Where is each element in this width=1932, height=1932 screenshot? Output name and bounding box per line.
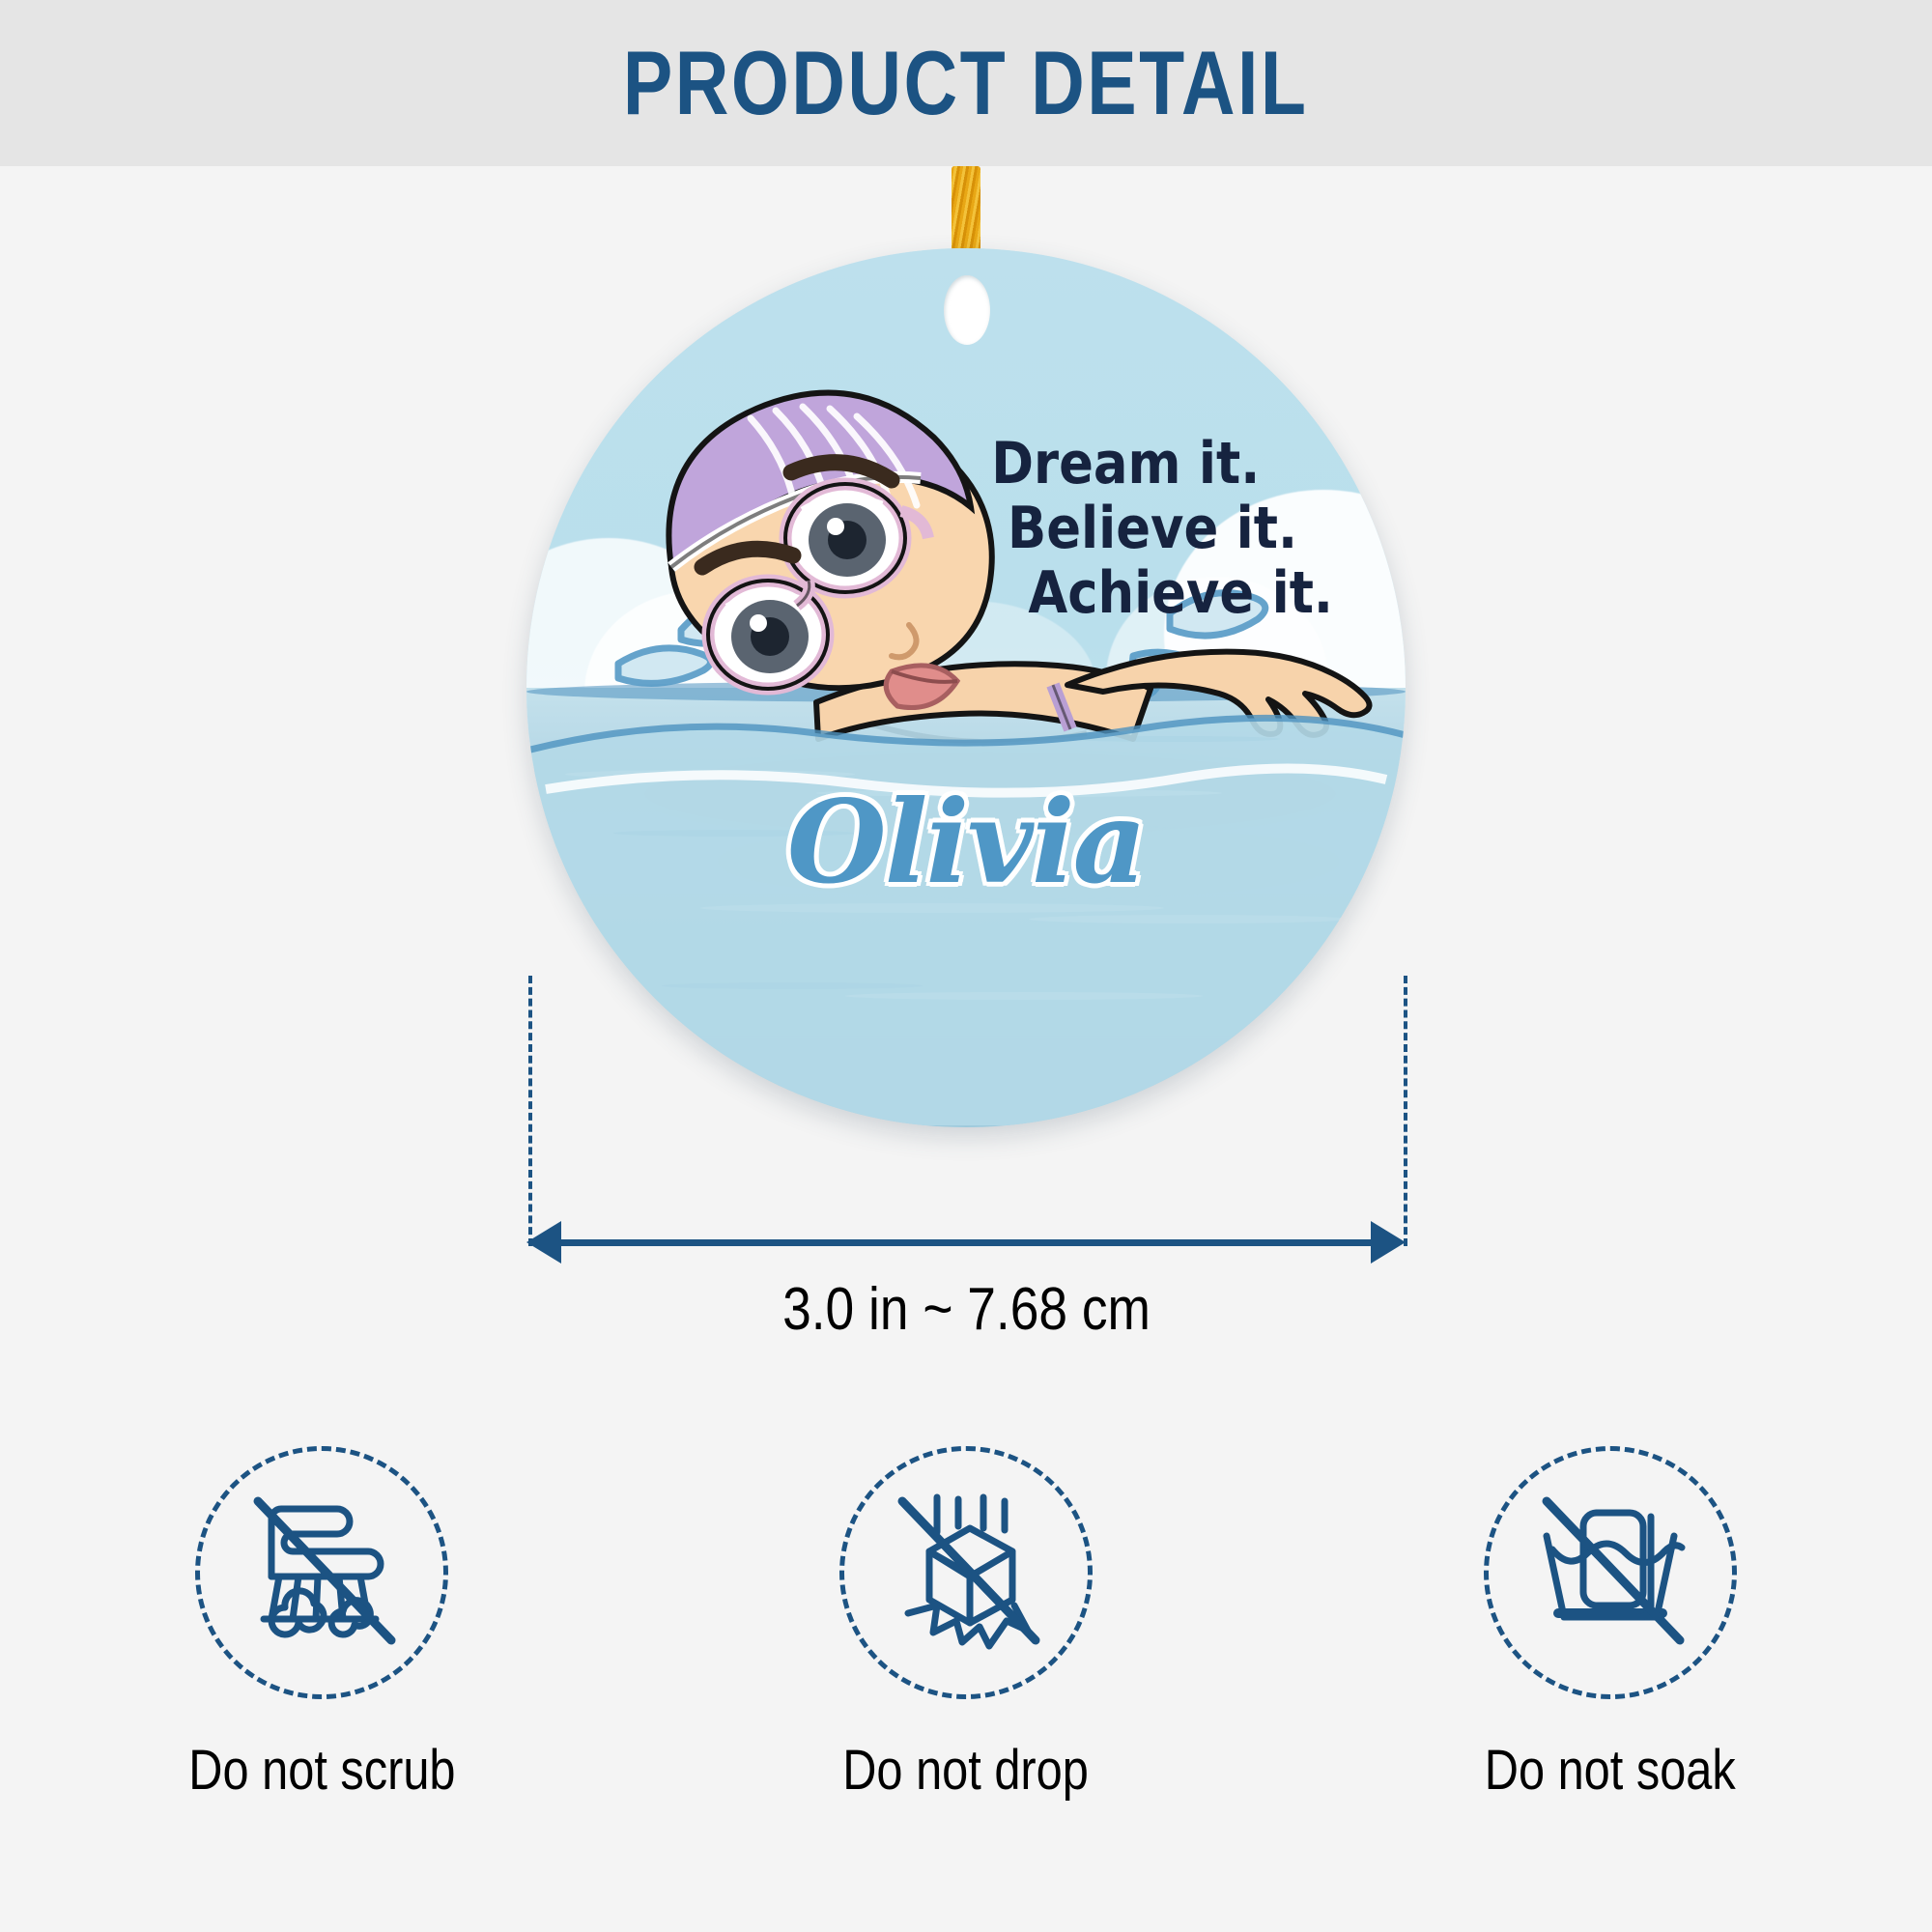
care-item-no-scrub: Do not scrub (51, 1446, 592, 1803)
hanging-hole (944, 275, 990, 345)
header-banner: PRODUCT DETAIL (0, 0, 1932, 166)
dimension-guide-left (528, 976, 532, 1246)
care-label-no-drop: Do not drop (843, 1738, 1090, 1803)
quote-line-3: Achieve it. (789, 561, 1333, 626)
dimension-arrow-line (547, 1239, 1385, 1246)
care-label-no-scrub: Do not scrub (188, 1738, 455, 1803)
no-drop-box-icon (839, 1446, 1093, 1699)
no-scrub-brush-icon (195, 1446, 448, 1699)
care-label-no-soak: Do not soak (1485, 1738, 1736, 1803)
dimension-arrow-left-icon (526, 1221, 561, 1264)
quote-line-2: Believe it. (789, 497, 1333, 561)
quote-line-1: Dream it. (789, 432, 1333, 497)
care-item-no-soak: Do not soak (1340, 1446, 1881, 1803)
dimension-label: 3.0 in ~ 7.68 cm (588, 1275, 1345, 1344)
personalized-name: Olivia (526, 775, 1406, 909)
no-soak-basin-icon (1484, 1446, 1737, 1699)
ornament-product-image[interactable]: Dream it. Believe it. Achieve it. Olivia (526, 248, 1406, 1127)
care-item-no-drop: Do not drop (696, 1446, 1236, 1803)
care-instructions-row: Do not scrub (0, 1446, 1932, 1852)
ornament-quote: Dream it. Believe it. Achieve it. (715, 432, 1333, 627)
product-stage: Dream it. Believe it. Achieve it. Olivia… (0, 166, 1932, 1932)
page-title: PRODUCT DETAIL (623, 38, 1309, 128)
swimmer-girl-illustration (526, 248, 1406, 1127)
dimension-guide-right (1404, 976, 1407, 1246)
dimension-arrow-right-icon (1371, 1221, 1406, 1264)
